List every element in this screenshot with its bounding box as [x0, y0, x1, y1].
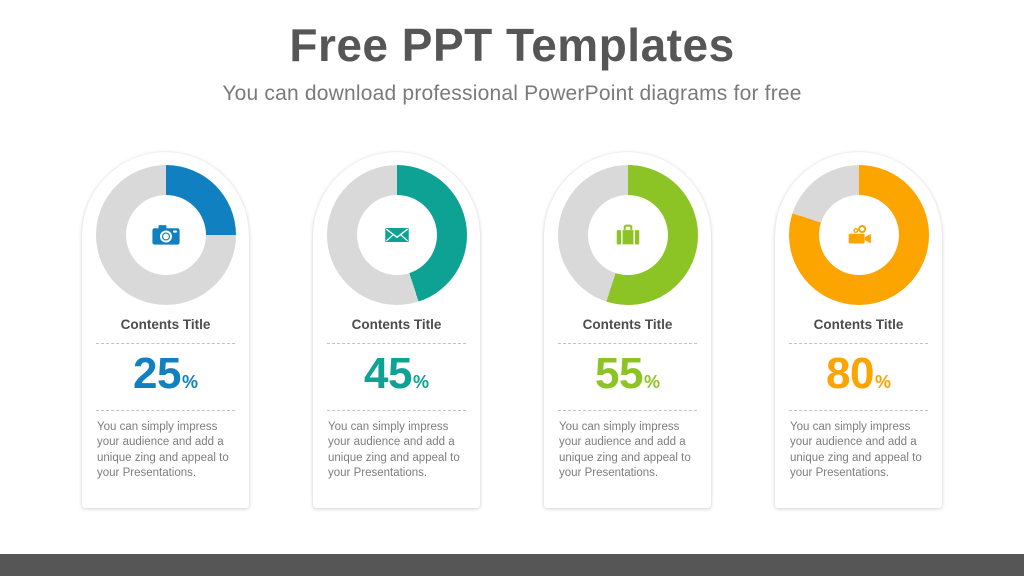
- donut-chart-2: [327, 165, 467, 305]
- slide: Free PPT Templates You can download prof…: [0, 0, 1024, 576]
- video-camera-icon: [844, 220, 874, 250]
- percent-value-3: 55: [595, 349, 643, 398]
- divider-bottom-1: [96, 410, 235, 411]
- divider-bottom-4: [789, 410, 928, 411]
- percent-row-3: 55%: [544, 352, 711, 396]
- donut-chart-4: [789, 165, 929, 305]
- card-title-1: Contents Title: [82, 317, 249, 332]
- donut-hole-3: [588, 195, 668, 275]
- donut-hole-1: [126, 195, 206, 275]
- donut-hole-4: [819, 195, 899, 275]
- percent-value-1: 25: [133, 349, 181, 398]
- card-body-1: You can simply impress your audience and…: [97, 420, 234, 481]
- envelope-icon: [382, 220, 412, 250]
- percent-value-4: 80: [826, 349, 874, 398]
- percent-value-2: 45: [364, 349, 412, 398]
- camera-icon: [151, 220, 181, 250]
- card-title-3: Contents Title: [544, 317, 711, 332]
- divider-bottom-2: [327, 410, 466, 411]
- percent-sign-3: %: [644, 372, 660, 392]
- percent-sign-2: %: [413, 372, 429, 392]
- card-4[interactable]: Contents Title 80% You can simply impres…: [775, 152, 942, 508]
- divider-top-4: [789, 343, 928, 344]
- percent-row-2: 45%: [313, 352, 480, 396]
- card-body-2: You can simply impress your audience and…: [328, 420, 465, 481]
- card-body-3: You can simply impress your audience and…: [559, 420, 696, 481]
- percent-sign-1: %: [182, 372, 198, 392]
- percent-row-1: 25%: [82, 352, 249, 396]
- page-title: Free PPT Templates: [0, 0, 1024, 72]
- percent-row-4: 80%: [775, 352, 942, 396]
- divider-top-2: [327, 343, 466, 344]
- footer-bar: [0, 554, 1024, 576]
- divider-top-3: [558, 343, 697, 344]
- cards-row: Contents Title 25% You can simply impres…: [0, 152, 1024, 522]
- card-title-4: Contents Title: [775, 317, 942, 332]
- page-subtitle: You can download professional PowerPoint…: [0, 72, 1024, 106]
- divider-top-1: [96, 343, 235, 344]
- card-1[interactable]: Contents Title 25% You can simply impres…: [82, 152, 249, 508]
- slide-header: Free PPT Templates You can download prof…: [0, 0, 1024, 106]
- divider-bottom-3: [558, 410, 697, 411]
- briefcase-icon: [613, 220, 643, 250]
- card-title-2: Contents Title: [313, 317, 480, 332]
- card-2[interactable]: Contents Title 45% You can simply impres…: [313, 152, 480, 508]
- donut-chart-3: [558, 165, 698, 305]
- donut-chart-1: [96, 165, 236, 305]
- donut-hole-2: [357, 195, 437, 275]
- card-body-4: You can simply impress your audience and…: [790, 420, 927, 481]
- percent-sign-4: %: [875, 372, 891, 392]
- card-3[interactable]: Contents Title 55% You can simply impres…: [544, 152, 711, 508]
